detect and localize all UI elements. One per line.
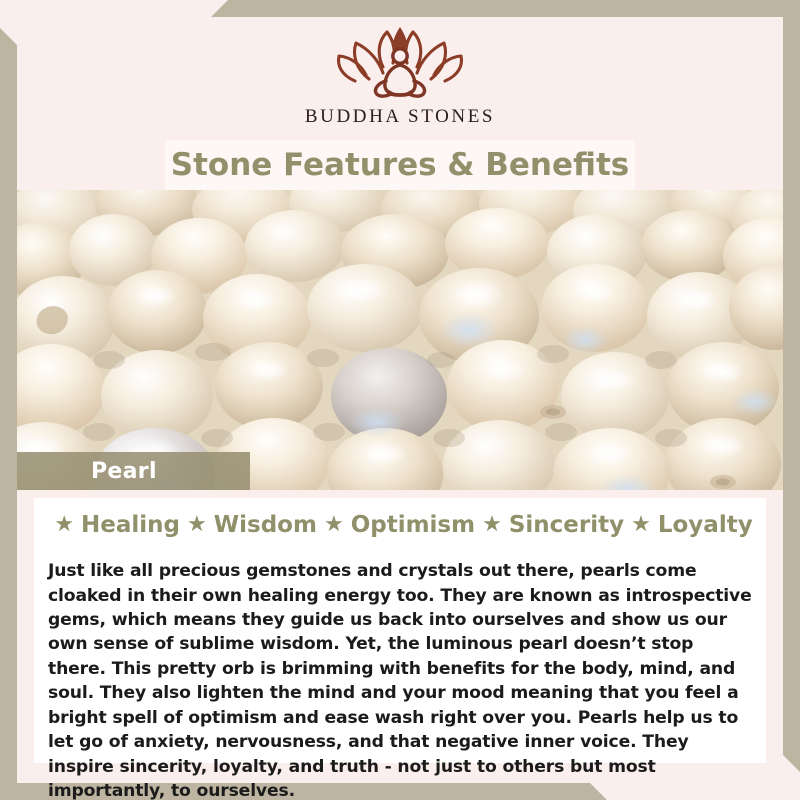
description-text: Just like all precious gemstones and cry… (46, 559, 754, 800)
benefits-list: ★ Healing ★ Wisdom ★ Optimism ★ Sincerit… (46, 508, 754, 542)
benefit-item: ★ Healing (47, 512, 180, 538)
frame-top-bar (0, 0, 800, 17)
lotus-meditation-figure-icon (325, 23, 475, 105)
benefit-label: Optimism (351, 512, 475, 538)
benefit-item: ★ Loyalty (624, 512, 753, 538)
benefit-item: ★ Wisdom (180, 512, 317, 538)
title-band: Stone Features & Benefits (165, 140, 635, 190)
page-title: Stone Features & Benefits (171, 147, 629, 183)
stone-photo (17, 190, 783, 490)
benefit-label: Sincerity (509, 512, 624, 538)
benefit-item: ★ Optimism (317, 512, 475, 538)
star-icon: ★ (54, 513, 74, 535)
benefit-item: ★ Sincerity (475, 512, 624, 538)
star-icon: ★ (187, 513, 207, 535)
star-icon: ★ (631, 513, 651, 535)
brand-name: BUDDHA STONES (305, 106, 495, 128)
frame-right-bar (783, 0, 800, 800)
brand-header: BUDDHA STONES (17, 17, 783, 137)
content-card: ★ Healing ★ Wisdom ★ Optimism ★ Sincerit… (34, 498, 766, 763)
infographic-page: BUDDHA STONES Stone Features & Benefits (0, 0, 800, 800)
star-icon: ★ (482, 513, 502, 535)
stone-name: Pearl (17, 459, 157, 484)
benefit-label: Healing (81, 512, 180, 538)
frame-left-bar (0, 0, 17, 800)
stone-name-banner: Pearl (17, 452, 250, 490)
pearls-photo-image (17, 190, 783, 490)
benefit-label: Wisdom (214, 512, 317, 538)
star-icon: ★ (324, 513, 344, 535)
benefit-label: Loyalty (658, 512, 753, 538)
